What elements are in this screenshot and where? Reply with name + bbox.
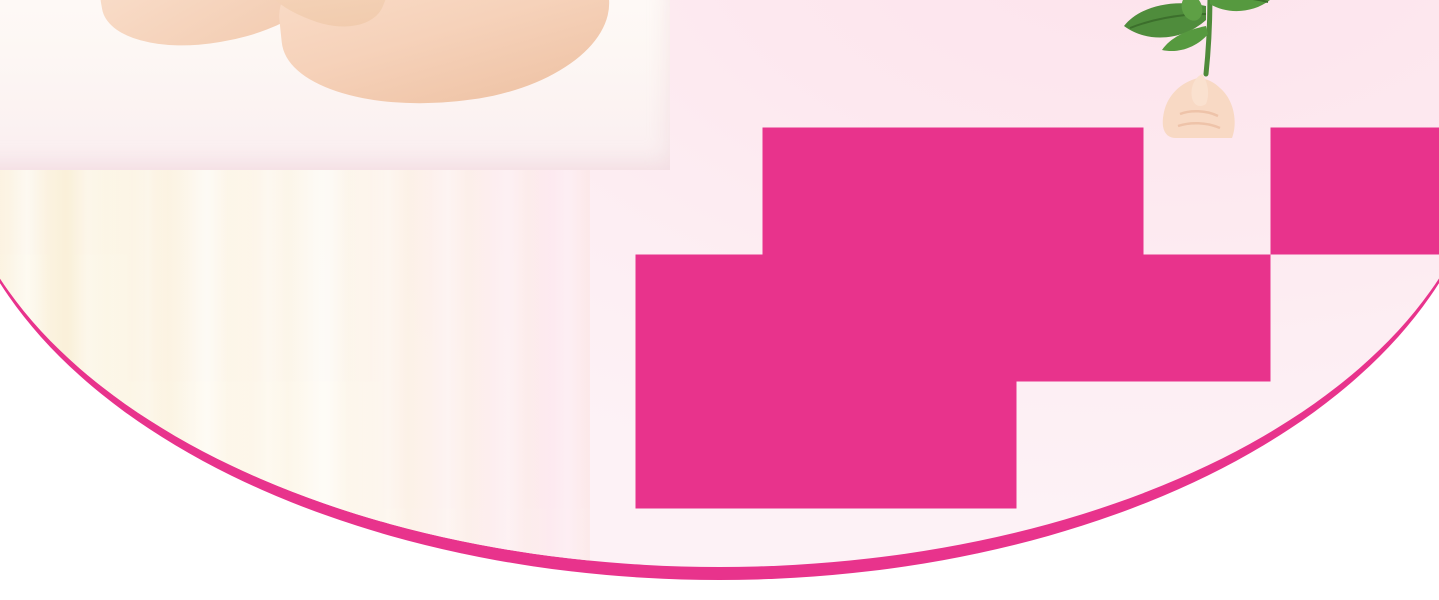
banner-root: 男孩生男孩 性别逖 协朗孩 找代孕，就 成功为数千数 试管婴儿 供卵供精 <box>0 0 1439 600</box>
pink-rose-icon <box>1120 0 1300 138</box>
mother-and-baby-photo <box>0 0 610 140</box>
banner-card: 男孩生男孩 性别逖 协朗孩 找代孕，就 成功为数千数 试管婴儿 供卵供精 <box>0 0 1439 580</box>
